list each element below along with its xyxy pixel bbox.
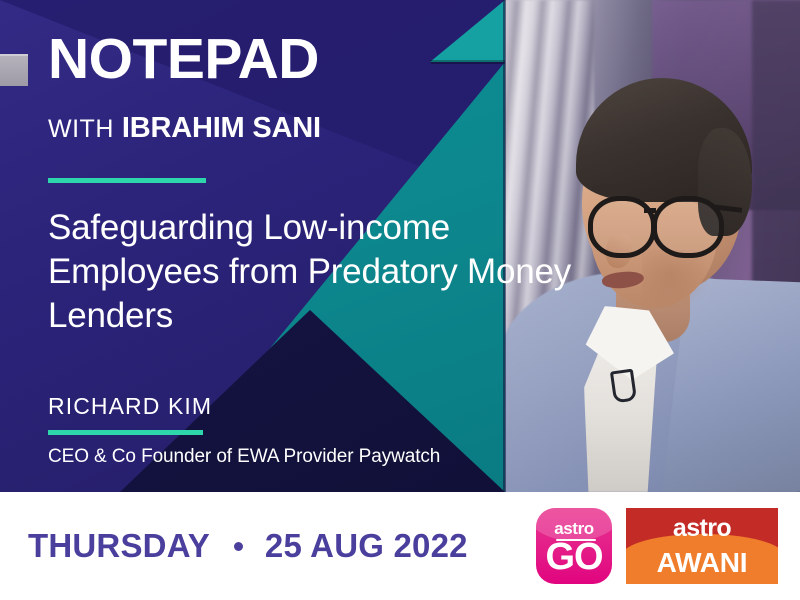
accent-rule-guest (48, 430, 203, 435)
astro-awani-brand-text: astro (626, 514, 778, 543)
promo-card: NOTEPAD WITHIBRAHIM SANI Safeguarding Lo… (0, 0, 800, 600)
broadcast-date: THURSDAY 25 AUG 2022 (28, 527, 468, 565)
broadcast-date-value: 25 AUG 2022 (265, 527, 468, 565)
astro-go-logo[interactable]: astro GO (536, 508, 612, 584)
episode-title: Safeguarding Low-income Employees from P… (48, 206, 578, 338)
footer-bar: THURSDAY 25 AUG 2022 astro GO astro AWAN… (0, 492, 800, 600)
show-host-line: WITHIBRAHIM SANI (48, 114, 321, 143)
hero-text-block: NOTEPAD WITHIBRAHIM SANI Safeguarding Lo… (0, 0, 505, 492)
broadcast-day: THURSDAY (28, 527, 210, 565)
astro-awani-logo[interactable]: astro AWANI (626, 508, 778, 584)
accent-rule-top (48, 178, 206, 183)
show-title: NOTEPAD (48, 31, 319, 88)
astro-awani-product-text: AWANI (626, 547, 778, 579)
show-with-label: WITH (48, 115, 114, 143)
guest-name: RICHARD KIM (48, 393, 212, 420)
guest-role: CEO & Co Founder of EWA Provider Paywatc… (48, 446, 440, 468)
astro-go-product-text: GO (536, 538, 612, 578)
footer-logos: astro GO astro AWANI (536, 508, 778, 584)
bullet-separator-icon (234, 542, 243, 551)
hero-banner: NOTEPAD WITHIBRAHIM SANI Safeguarding Lo… (0, 0, 800, 492)
show-host-name: IBRAHIM SANI (122, 112, 321, 144)
